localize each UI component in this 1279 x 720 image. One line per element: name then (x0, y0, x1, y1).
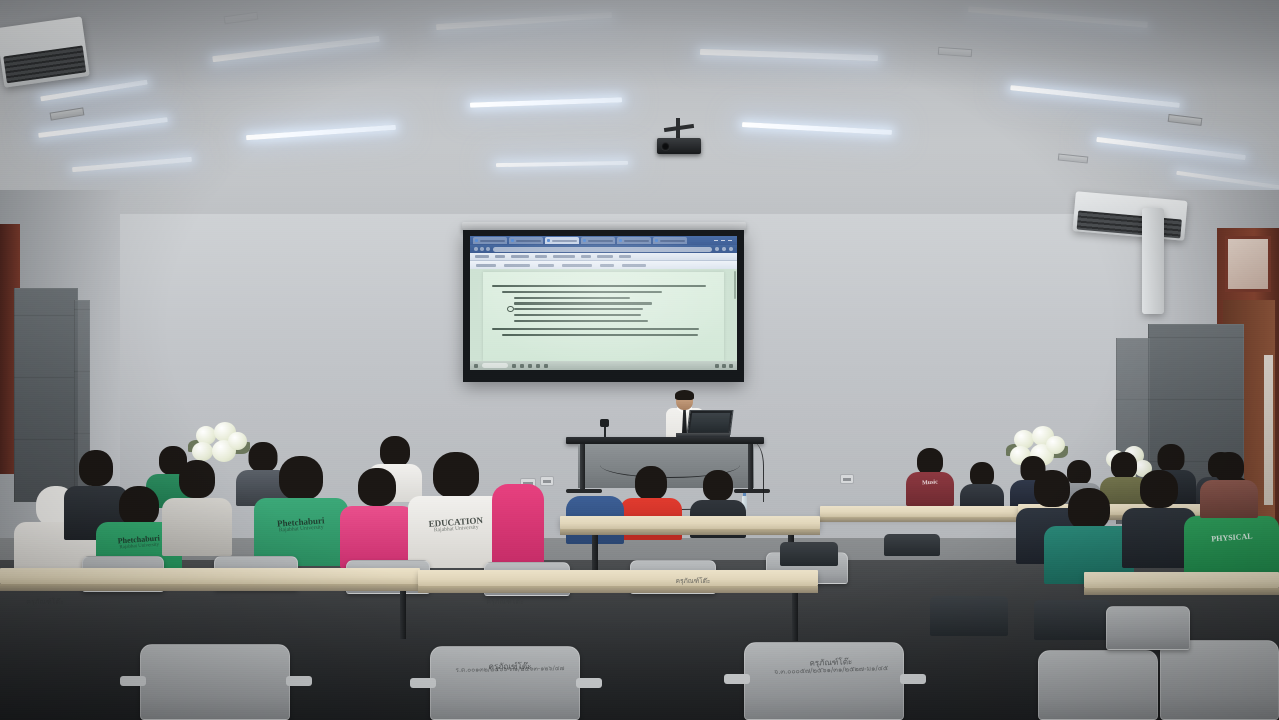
desk-edge (820, 517, 1020, 522)
student-desk (418, 570, 818, 586)
wall-mounted-ac-left (0, 16, 90, 87)
desk-leg (792, 593, 798, 641)
student (340, 468, 414, 568)
document-scrollbar[interactable] (734, 271, 736, 299)
student-head (380, 436, 410, 467)
student-desk (820, 506, 1020, 517)
chair-armrest (900, 674, 926, 684)
student-head (917, 448, 943, 475)
browser-toolbar-icons[interactable] (715, 247, 733, 251)
clock-icon[interactable] (729, 364, 733, 368)
student-chair[interactable] (1160, 640, 1279, 720)
student-head (279, 456, 323, 500)
student-garment (1184, 516, 1279, 580)
student: Music (906, 448, 954, 506)
chair-armrest (120, 676, 146, 686)
student-garment (1200, 480, 1258, 518)
ac-duct-right (1142, 208, 1164, 314)
browser-tab[interactable] (617, 237, 651, 244)
chair-armrest (724, 674, 750, 684)
student-head (179, 460, 215, 498)
student-garment (906, 472, 954, 506)
student-chair[interactable] (1106, 606, 1190, 650)
doc-question-line (502, 334, 698, 336)
browser-nav-buttons[interactable] (474, 247, 490, 251)
student-head (79, 450, 113, 486)
door-window (1225, 236, 1271, 292)
start-icon[interactable] (474, 364, 478, 368)
student-desk (1084, 572, 1279, 588)
presenter-hair (675, 390, 694, 400)
doc-question-line (492, 285, 705, 287)
taskbar-search-input[interactable] (482, 363, 508, 368)
student-head (358, 468, 396, 506)
desk-asset-tag: ครุภัณฑ์โต๊ะ (0, 598, 90, 606)
student (960, 462, 1004, 510)
doc-choice-line (514, 302, 652, 304)
browser-tab[interactable] (653, 237, 687, 244)
student (162, 460, 232, 556)
circled-answer-marker (507, 306, 514, 313)
student: Phetchaburi Rajabhat University (254, 456, 348, 566)
desk-asset-tag: ครุภัณฑ์โต๊ะ (460, 598, 550, 606)
doc-choice-line (514, 320, 647, 322)
projector-mount-pole (676, 118, 680, 140)
desk-asset-tag: ครุภัณฑ์โต๊ะ (648, 578, 738, 585)
student-chair[interactable] (780, 542, 838, 566)
student-head (635, 466, 667, 500)
student (1200, 452, 1258, 518)
doc-question-line (502, 291, 662, 293)
flower-bloom (1046, 436, 1065, 454)
presenter-laptop-screen[interactable] (686, 410, 733, 435)
ac-grille-left (4, 45, 86, 83)
student-garment (340, 506, 414, 568)
ceiling-projector (657, 138, 701, 154)
taskbar-app-icon[interactable] (512, 364, 516, 368)
system-tray[interactable] (715, 364, 733, 368)
student-chair[interactable] (430, 646, 580, 720)
taskbar-app-icon[interactable] (536, 364, 540, 368)
table-leg (580, 444, 585, 492)
document-page (483, 272, 723, 361)
student-garment (408, 496, 504, 568)
projector-lens (661, 142, 670, 151)
wall-outlet-right[interactable] (840, 474, 854, 484)
student-chair[interactable] (930, 596, 1008, 636)
browser-address-bar[interactable] (470, 245, 737, 253)
desk-edge (0, 584, 420, 591)
student-desk (0, 568, 420, 584)
chair-armrest (410, 678, 436, 688)
network-icon[interactable] (715, 364, 719, 368)
browser-tab-active[interactable] (545, 237, 579, 244)
classroom-photo: Music (0, 0, 1279, 720)
doc-choice-line (514, 297, 630, 299)
desk-leg (400, 591, 406, 639)
doc-question-line (492, 328, 699, 330)
student-head (1140, 470, 1178, 508)
student-head (703, 470, 733, 501)
volume-icon[interactable] (722, 364, 726, 368)
taskbar-app-icon[interactable] (544, 364, 548, 368)
student-chair[interactable] (140, 644, 290, 720)
desk-leg (592, 535, 598, 575)
chair-armrest (576, 678, 602, 688)
address-input[interactable] (493, 247, 712, 252)
browser-tab[interactable] (473, 237, 507, 244)
os-taskbar[interactable] (470, 361, 737, 370)
student-head (1068, 488, 1110, 530)
student-head (433, 452, 479, 498)
chair-armrest (286, 676, 312, 686)
projection-screen (463, 230, 744, 382)
student-desk (560, 516, 820, 529)
browser-tab[interactable] (509, 237, 543, 244)
desk-edge (1084, 588, 1279, 595)
student-garment (162, 498, 232, 556)
browser-tab[interactable] (581, 237, 615, 244)
document-viewport (470, 269, 737, 361)
student: EDUCATION Rajabhat University (408, 452, 504, 568)
desk-edge (560, 529, 820, 535)
student-chair[interactable] (744, 642, 904, 720)
student (492, 470, 544, 566)
browser-tab-bar[interactable] (470, 236, 737, 245)
document-ribbon[interactable] (470, 261, 737, 269)
doc-choice-line-circled (514, 308, 643, 310)
student-chair[interactable] (1038, 650, 1158, 720)
document-toolbar[interactable] (470, 253, 737, 261)
student (1044, 488, 1134, 584)
student-chair[interactable] (1034, 600, 1110, 640)
desk-edge (418, 586, 818, 593)
presenter-table-top (566, 437, 764, 444)
doc-choice-line (514, 314, 641, 316)
screen-surface (470, 236, 737, 370)
student-head (1214, 452, 1244, 482)
student-garment (492, 484, 544, 566)
student-chair[interactable] (884, 534, 940, 556)
student-head (119, 486, 159, 526)
student-head (1158, 444, 1185, 472)
microphone[interactable] (600, 419, 609, 427)
window-controls[interactable] (714, 240, 734, 242)
projected-browser-window (470, 236, 737, 370)
taskbar-app-icon[interactable] (520, 364, 524, 368)
taskbar-app-icon[interactable] (528, 364, 532, 368)
